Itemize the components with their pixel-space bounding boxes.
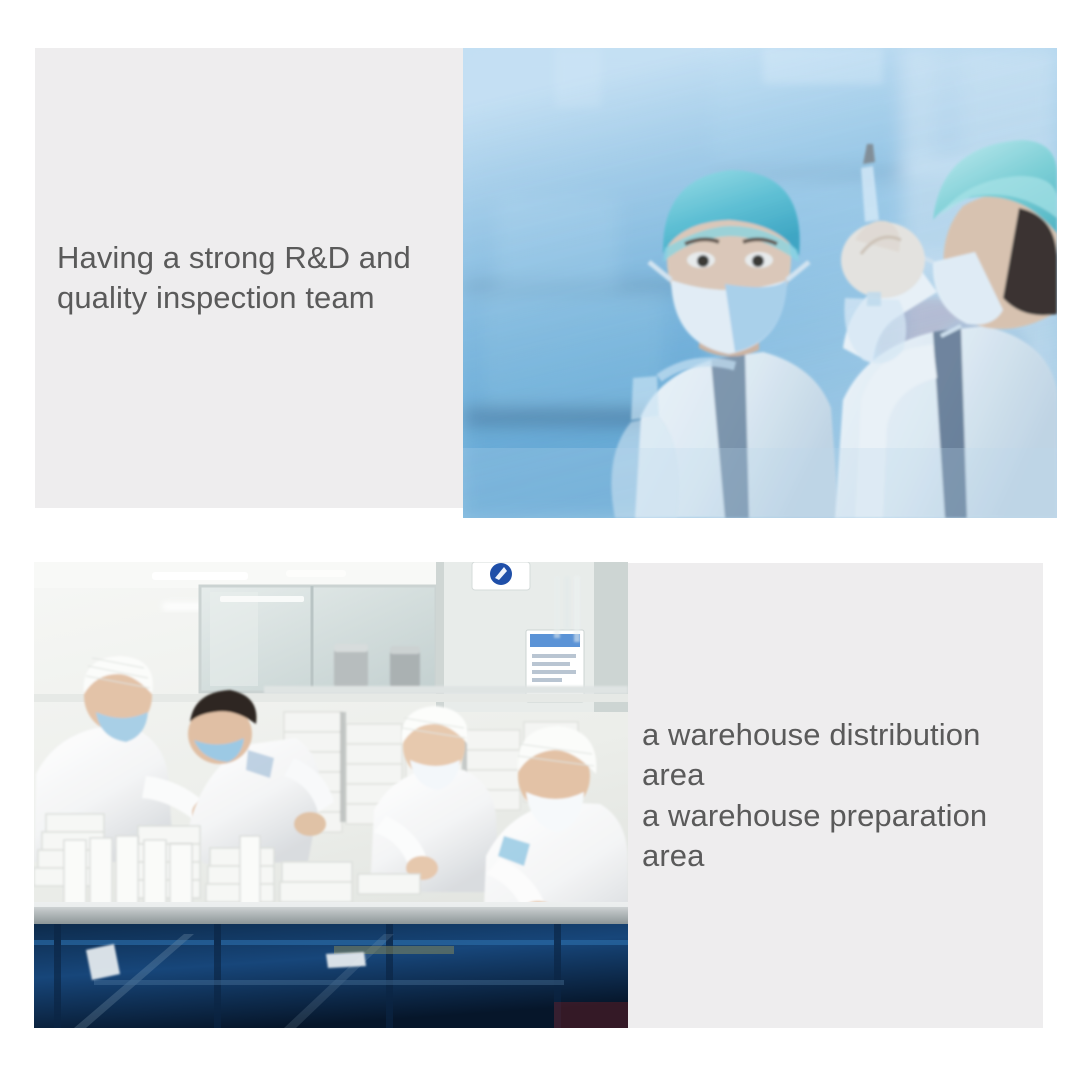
rd-quality-caption: Having a strong R&D and quality inspecti… — [57, 238, 411, 319]
rd-quality-photo — [463, 48, 1057, 518]
rd-quality-text-panel: Having a strong R&D and quality inspecti… — [35, 48, 464, 508]
warehouse-text-panel: a warehouse distribution area a warehous… — [628, 563, 1043, 1028]
warehouse-photo — [34, 562, 628, 1028]
wall-sign-icon — [472, 562, 530, 590]
laboratory-photo-illustration — [463, 48, 1057, 518]
warehouse-caption: a warehouse distribution area a warehous… — [642, 715, 1035, 876]
warehouse-photo-illustration — [34, 562, 628, 1028]
